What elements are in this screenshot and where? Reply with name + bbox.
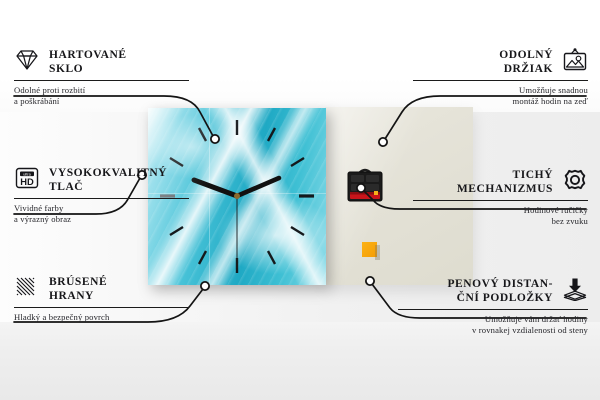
foam-spacer-icon	[562, 277, 588, 301]
feature-title: VYSOKOKVALITNÝ TLAČ	[49, 166, 167, 194]
feature-description: Vividné farby a výrazný obraz	[14, 203, 189, 224]
feature-header: BRÚSENÉ HRANY	[14, 275, 189, 303]
feature-title-line1: TICHÝ	[457, 169, 553, 183]
infographic-canvas: HARTOVANÉ SKLO Odolné proti rozbití a po…	[0, 0, 600, 400]
feature-header: HARTOVANÉ SKLO	[14, 48, 189, 76]
feature-title-line1: BRÚSENÉ	[49, 276, 107, 290]
ground-edges-icon	[14, 275, 40, 299]
feature-ground-edges[interactable]: BRÚSENÉ HRANY Hladký a bezpečný povrch	[14, 275, 189, 323]
feature-title: HARTOVANÉ SKLO	[49, 48, 127, 76]
feature-header: ultra HD VYSOKOKVALITNÝ TLAČ	[14, 166, 189, 194]
feature-description: Umožňuje snadnou montáž hodin na zeď	[413, 85, 588, 106]
ultra-hd-icon-big-text: HD	[20, 176, 34, 187]
feature-tempered-glass[interactable]: HARTOVANÉ SKLO Odolné proti rozbití a po…	[14, 48, 189, 106]
diamond-icon	[14, 48, 40, 72]
feature-desc-line2: v rovnakej vzdialenosti od steny	[398, 325, 588, 336]
feature-title: BRÚSENÉ HRANY	[49, 275, 107, 303]
feature-title-line1: ODOLNÝ	[499, 49, 553, 63]
feature-divider	[14, 198, 189, 199]
feature-title: ODOLNÝ DRŽIAK	[499, 48, 553, 76]
feature-description: Umožňuje vám držať hodiny v rovnakej vzd…	[398, 314, 588, 335]
feature-desc-line1: Hodinové ručičky	[413, 205, 588, 216]
feature-header: PENOVÝ DISTAN- ČNÍ PODLOŽKY	[398, 277, 588, 305]
feature-title-line2: SKLO	[49, 63, 127, 77]
feature-description: Odolné proti rozbití a poškrábání	[14, 85, 189, 106]
picture-hanger-icon	[562, 48, 588, 72]
feature-title: TICHÝ MECHANIZMUS	[457, 168, 553, 196]
feature-description: Hladký a bezpečný povrch	[14, 312, 189, 323]
clock-mechanism	[345, 167, 385, 204]
feature-divider	[14, 80, 189, 81]
feature-desc-line1: Hladký a bezpečný povrch	[14, 312, 189, 323]
gear-icon	[562, 168, 588, 192]
feature-desc-line1: Odolné proti rozbití	[14, 85, 189, 96]
feature-title: PENOVÝ DISTAN- ČNÍ PODLOŽKY	[447, 277, 553, 305]
feature-divider	[413, 80, 588, 81]
feature-desc-line1: Vividné farby	[14, 203, 189, 214]
feature-title-line2: TLAČ	[49, 181, 167, 195]
feature-desc-line1: Umožňuje vám držať hodiny	[398, 314, 588, 325]
feature-durable-hanger[interactable]: ODOLNÝ DRŽIAK Umožňuje snadnou montáž ho…	[413, 48, 588, 106]
feature-description: Hodinové ručičky bez zvuku	[413, 205, 588, 226]
feature-header: TICHÝ MECHANIZMUS	[413, 168, 588, 196]
feature-desc-line1: Umožňuje snadnou	[413, 85, 588, 96]
feature-silent-mechanism[interactable]: TICHÝ MECHANIZMUS Hodinové ručičky bez z…	[413, 168, 588, 226]
feature-desc-line2: bez zvuku	[413, 216, 588, 227]
feature-title-line2: HRANY	[49, 290, 107, 304]
feature-title-line2: DRŽIAK	[499, 63, 553, 77]
feature-divider	[398, 309, 588, 310]
feature-foam-spacers[interactable]: PENOVÝ DISTAN- ČNÍ PODLOŽKY Umožňuje vám…	[398, 277, 588, 335]
feature-title-line2: ČNÍ PODLOŽKY	[447, 292, 553, 306]
feature-title-line1: HARTOVANÉ	[49, 49, 127, 63]
feature-divider	[413, 200, 588, 201]
feature-desc-line2: montáž hodin na zeď	[413, 96, 588, 107]
feature-title-line1: PENOVÝ DISTAN-	[447, 278, 553, 292]
feature-desc-line2: a výrazný obraz	[14, 214, 189, 225]
feature-header: ODOLNÝ DRŽIAK	[413, 48, 588, 76]
feature-desc-line2: a poškrábání	[14, 96, 189, 107]
foam-spacer-pad	[362, 242, 377, 257]
feature-title-line1: VYSOKOKVALITNÝ	[49, 167, 167, 181]
feature-high-quality-print[interactable]: ultra HD VYSOKOKVALITNÝ TLAČ Vividné far…	[14, 166, 189, 224]
feature-divider	[14, 307, 189, 308]
ultra-hd-icon: ultra HD	[14, 166, 40, 190]
feature-title-line2: MECHANIZMUS	[457, 183, 553, 197]
